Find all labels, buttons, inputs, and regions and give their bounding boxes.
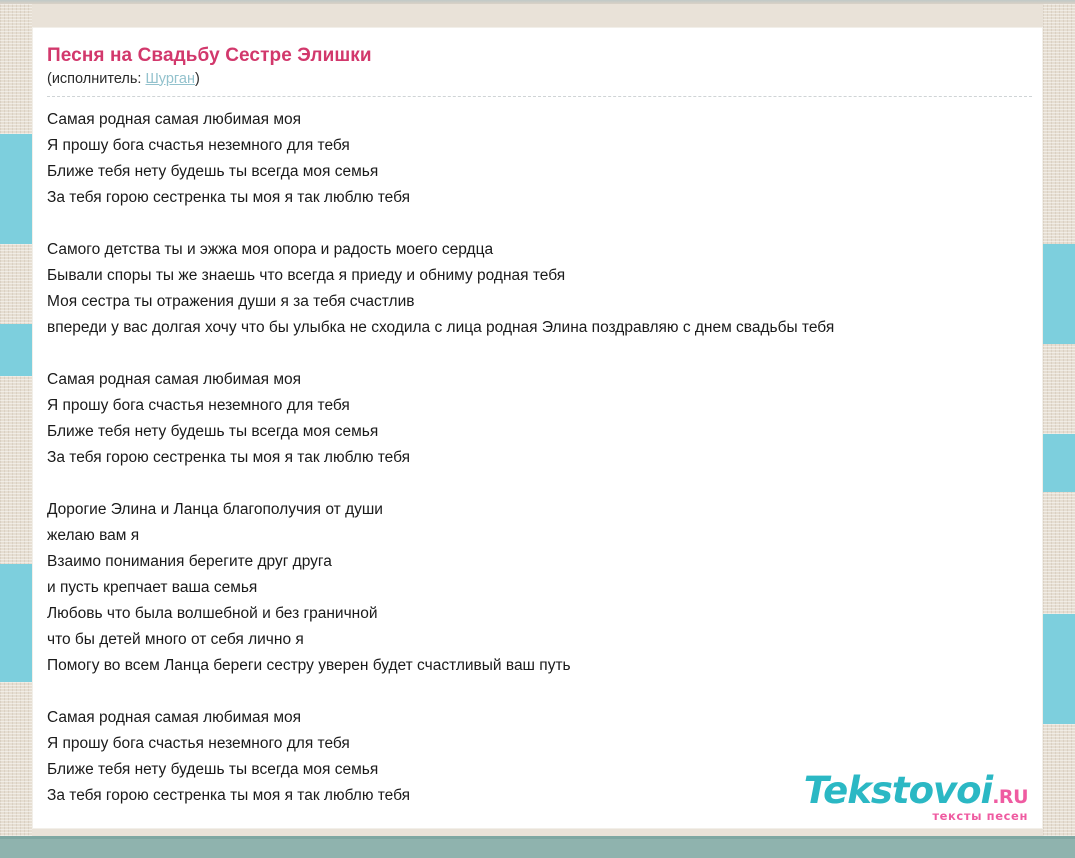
lyrics-line: Я прошу бога счастья неземного для тебя (47, 735, 350, 752)
lyrics-stanza: Дорогие Элина и Ланца благополучия от ду… (47, 497, 1032, 679)
lyrics-card: Песня на Свадьбу Сестре Элишки (исполнит… (33, 28, 1042, 828)
logo-subtitle: тексты песен (804, 811, 1028, 823)
rail-block-turquoise (0, 324, 32, 376)
left-decorative-rail (0, 4, 32, 836)
rail-block-turquoise (1043, 614, 1075, 724)
lyrics-line: Я прошу бога счастья неземного для тебя (47, 397, 350, 414)
performer-label-suffix: ) (195, 71, 200, 87)
lyrics-stanza: Самого детства ты и эжжа моя опора и рад… (47, 237, 1032, 341)
lyrics-line: Любовь что была волшебной и без гранично… (47, 605, 378, 622)
rail-block-turquoise (0, 134, 32, 244)
lyrics-line: Самая родная самая любимая моя (47, 111, 301, 128)
lyrics-line: Ближе тебя нету будешь ты всегда моя сем… (47, 163, 378, 180)
lyrics-line: Ближе тебя нету будешь ты всегда моя сем… (47, 423, 378, 440)
lyrics-line: и пусть крепчает ваша семья (47, 579, 257, 596)
lyrics-line: Моя сестра ты отражения души я за тебя с… (47, 293, 415, 310)
lyrics-line: что бы детей много от себя лично я (47, 631, 304, 648)
page-frame: Песня на Свадьбу Сестре Элишки (исполнит… (0, 0, 1075, 858)
lyrics-line: Ближе тебя нету будешь ты всегда моя сем… (47, 761, 378, 778)
lyrics-line: впереди у вас долгая хочу что бы улыбка … (47, 319, 834, 336)
header-divider (47, 96, 1032, 97)
site-logo[interactable]: Tekstovoi.RU тексты песен (804, 772, 1028, 823)
lyrics-line: Самая родная самая любимая моя (47, 371, 301, 388)
lyrics-line: Бывали споры ты же знаешь что всегда я п… (47, 267, 565, 284)
performer-line: (исполнитель: Шурган) (47, 70, 1032, 96)
lyrics-stanza: Самая родная самая любимая моя Я прошу б… (47, 107, 1032, 211)
logo-tld-text: .RU (992, 786, 1028, 808)
page-title: Песня на Свадьбу Сестре Элишки (47, 44, 1032, 68)
lyrics-line: Самая родная самая любимая моя (47, 709, 301, 726)
logo-main-text: Tekstovoi (804, 769, 993, 812)
lyrics-line: Я прошу бога счастья неземного для тебя (47, 137, 350, 154)
lyrics-line: За тебя горою сестренка ты моя я так люб… (47, 787, 410, 804)
lyrics-line: Помогу во всем Ланца береги сестру увере… (47, 657, 571, 674)
performer-label-prefix: (исполнитель: (47, 71, 145, 87)
right-decorative-rail (1043, 4, 1075, 836)
lyrics-stanza: Самая родная самая любимая моя Я прошу б… (47, 367, 1032, 471)
lyrics-line: За тебя горою сестренка ты моя я так люб… (47, 189, 410, 206)
lyrics-line: Дорогие Элина и Ланца благополучия от ду… (47, 501, 383, 518)
bottom-border-strip (0, 836, 1075, 858)
rail-block-turquoise (1043, 244, 1075, 344)
logo-wordmark: Tekstovoi.RU (804, 772, 1028, 809)
rail-block-turquoise (1043, 434, 1075, 492)
rail-block-turquoise (0, 564, 32, 682)
lyrics-body: Самая родная самая любимая моя Я прошу б… (47, 107, 1032, 809)
lyrics-line: За тебя горою сестренка ты моя я так люб… (47, 449, 410, 466)
lyrics-line: желаю вам я (47, 527, 139, 544)
lyrics-line: Самого детства ты и эжжа моя опора и рад… (47, 241, 493, 258)
performer-link[interactable]: Шурган (145, 71, 194, 87)
lyrics-line: Взаимо понимания берегите друг друга (47, 553, 332, 570)
top-border-strip (0, 0, 1075, 4)
